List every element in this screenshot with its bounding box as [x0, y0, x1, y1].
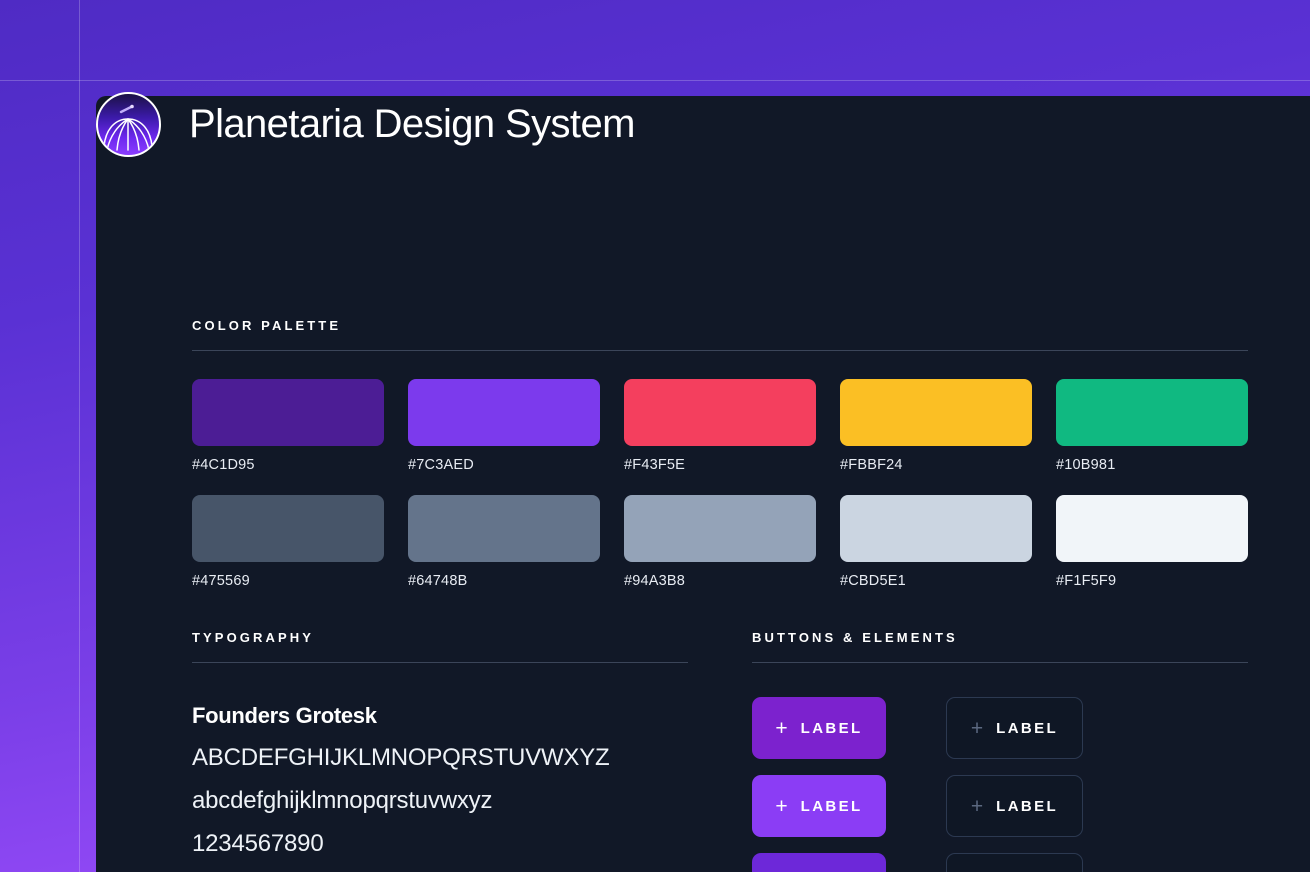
swatch-cell[interactable]: #94A3B8	[624, 495, 816, 589]
plus-icon: +	[971, 796, 983, 817]
swatch-hex-label: #64748B	[408, 573, 600, 589]
button-label: LABEL	[996, 720, 1058, 737]
swatch-hex-label: #4C1D95	[192, 457, 384, 473]
color-swatch[interactable]	[408, 495, 600, 562]
specimen-uppercase: ABCDEFGHIJKLMNOPQRSTUVWXYZ	[192, 744, 688, 772]
plus-icon: +	[775, 796, 787, 817]
color-swatch[interactable]	[192, 495, 384, 562]
plus-icon: +	[971, 718, 983, 739]
swatch-hex-label: #94A3B8	[624, 573, 816, 589]
specimen-lowercase: abcdefghijklmnopqrstuvwxyz	[192, 787, 688, 815]
swatch-cell[interactable]: #F1F5F9	[1056, 495, 1248, 589]
swatch-cell[interactable]: #CBD5E1	[840, 495, 1032, 589]
swatch-cell[interactable]: #64748B	[408, 495, 600, 589]
color-swatch[interactable]	[1056, 379, 1248, 446]
typeface-name: Founders Grotesk	[192, 703, 688, 729]
swatch-row-primary: #4C1D95 #7C3AED #F43F5E #FBBF24 #10B981	[192, 379, 1248, 473]
swatch-cell[interactable]: #FBBF24	[840, 379, 1032, 473]
section-divider	[192, 350, 1248, 351]
swatch-hex-label: #475569	[192, 573, 384, 589]
planet-dome-icon	[96, 92, 161, 157]
secondary-button[interactable]: + LABEL	[946, 775, 1083, 837]
buttons-section: BUTTONS & ELEMENTS + LABEL + LABEL + LAB…	[752, 630, 1248, 872]
color-swatch[interactable]	[408, 379, 600, 446]
secondary-button[interactable]: + LABEL	[946, 853, 1083, 872]
color-swatch[interactable]	[192, 379, 384, 446]
section-divider	[752, 662, 1248, 663]
plus-icon: +	[775, 718, 787, 739]
swatch-hex-label: #7C3AED	[408, 457, 600, 473]
swatch-hex-label: #10B981	[1056, 457, 1248, 473]
section-divider	[192, 662, 688, 663]
specimen-numerals: 1234567890	[192, 830, 688, 858]
swatch-hex-label: #F1F5F9	[1056, 573, 1248, 589]
swatch-row-neutral: #475569 #64748B #94A3B8 #CBD5E1 #F1F5F9	[192, 495, 1248, 589]
brand-header: Planetaria Design System	[96, 92, 635, 157]
swatch-hex-label: #F43F5E	[624, 457, 816, 473]
color-swatch[interactable]	[840, 495, 1032, 562]
swatch-cell[interactable]: #10B981	[1056, 379, 1248, 473]
section-heading-palette: COLOR PALETTE	[192, 318, 1248, 333]
swatch-cell[interactable]: #F43F5E	[624, 379, 816, 473]
swatch-cell[interactable]: #7C3AED	[408, 379, 600, 473]
color-palette-section: COLOR PALETTE #4C1D95 #7C3AED #F43F5E #F…	[192, 318, 1248, 589]
secondary-button[interactable]: + LABEL	[946, 697, 1083, 759]
section-heading-buttons: BUTTONS & ELEMENTS	[752, 630, 1248, 645]
primary-button[interactable]: + LABEL	[752, 853, 886, 872]
section-heading-typography: TYPOGRAPHY	[192, 630, 688, 645]
guide-line-horizontal	[0, 80, 1310, 81]
color-swatch[interactable]	[1056, 495, 1248, 562]
color-swatch[interactable]	[624, 379, 816, 446]
swatch-cell[interactable]: #475569	[192, 495, 384, 589]
swatch-cell[interactable]: #4C1D95	[192, 379, 384, 473]
typography-section: TYPOGRAPHY Founders Grotesk ABCDEFGHIJKL…	[192, 630, 688, 858]
guide-line-vertical	[79, 0, 80, 872]
swatch-hex-label: #CBD5E1	[840, 573, 1032, 589]
button-label: LABEL	[801, 720, 863, 737]
primary-button[interactable]: + LABEL	[752, 775, 886, 837]
button-label: LABEL	[801, 798, 863, 815]
button-grid: + LABEL + LABEL + LABEL + LABEL + LABEL …	[752, 697, 1248, 872]
page-title: Planetaria Design System	[189, 102, 635, 147]
button-label: LABEL	[996, 798, 1058, 815]
swatch-hex-label: #FBBF24	[840, 457, 1032, 473]
color-swatch[interactable]	[840, 379, 1032, 446]
primary-button[interactable]: + LABEL	[752, 697, 886, 759]
color-swatch[interactable]	[624, 495, 816, 562]
